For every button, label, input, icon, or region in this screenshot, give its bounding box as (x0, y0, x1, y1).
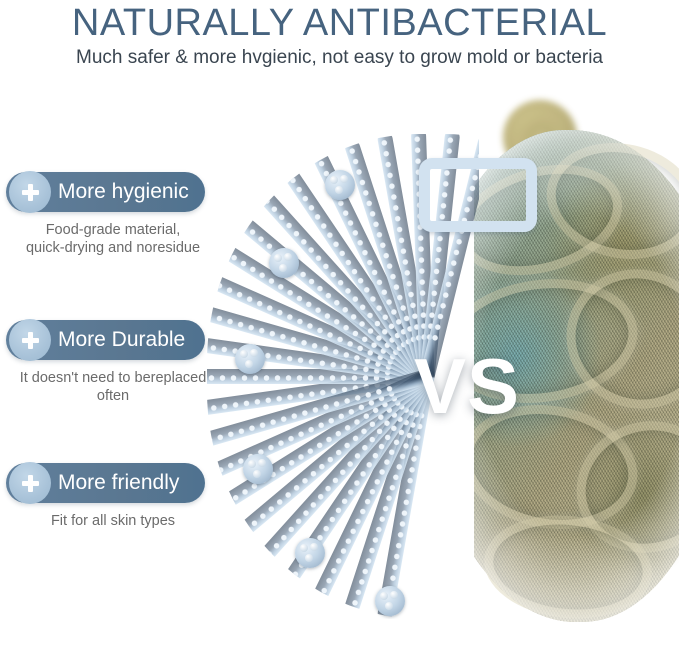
page-subtitle: Much safer & more hvgienic, not easy to … (0, 46, 679, 70)
feature-badge-durable[interactable]: More Durable (6, 320, 205, 360)
feature-caption-line: quick-drying and noresidue (6, 239, 220, 257)
page-title: NATURALLY ANTIBACTERIAL (0, 2, 679, 44)
suction-cup (243, 454, 273, 484)
scrubber-handle-loop (419, 158, 537, 232)
suction-cup (235, 344, 265, 374)
feature-label: More friendly (58, 471, 179, 495)
suction-cup (295, 538, 325, 568)
feature-badge-hygienic[interactable]: More hygienic (6, 172, 205, 212)
feature-caption: It doesn't need to bereplaced often (6, 369, 220, 405)
feature-caption-line: Food-grade material, (6, 221, 220, 239)
feature-label: More hygienic (58, 180, 189, 204)
feature-badge-friendly[interactable]: More friendly (6, 463, 205, 503)
feature-caption-line: It doesn't need to bereplaced (6, 369, 220, 387)
versus-label: VS (387, 347, 547, 425)
suction-cup (269, 248, 299, 278)
feature-caption: Food-grade material, quick-drying and no… (6, 221, 220, 257)
feature-more-friendly: More friendly Fit for all skin types (6, 463, 226, 530)
feature-caption-line: often (6, 387, 220, 405)
plus-icon (9, 171, 51, 213)
feature-more-durable: More Durable It doesn't need to bereplac… (6, 320, 226, 405)
product-comparison-image: VS (185, 92, 679, 652)
feature-label: More Durable (58, 328, 185, 352)
plus-icon (9, 319, 51, 361)
feature-more-hygienic: More hygienic Food-grade material, quick… (6, 172, 226, 257)
plus-icon (9, 462, 51, 504)
feature-caption: Fit for all skin types (6, 512, 220, 530)
split-product-disc: VS (207, 134, 647, 619)
suction-cup (375, 586, 405, 616)
feature-caption-line: Fit for all skin types (6, 512, 220, 530)
product-infographic: NATURALLY ANTIBACTERIAL Much safer & mor… (0, 0, 679, 660)
suction-cup (325, 170, 355, 200)
